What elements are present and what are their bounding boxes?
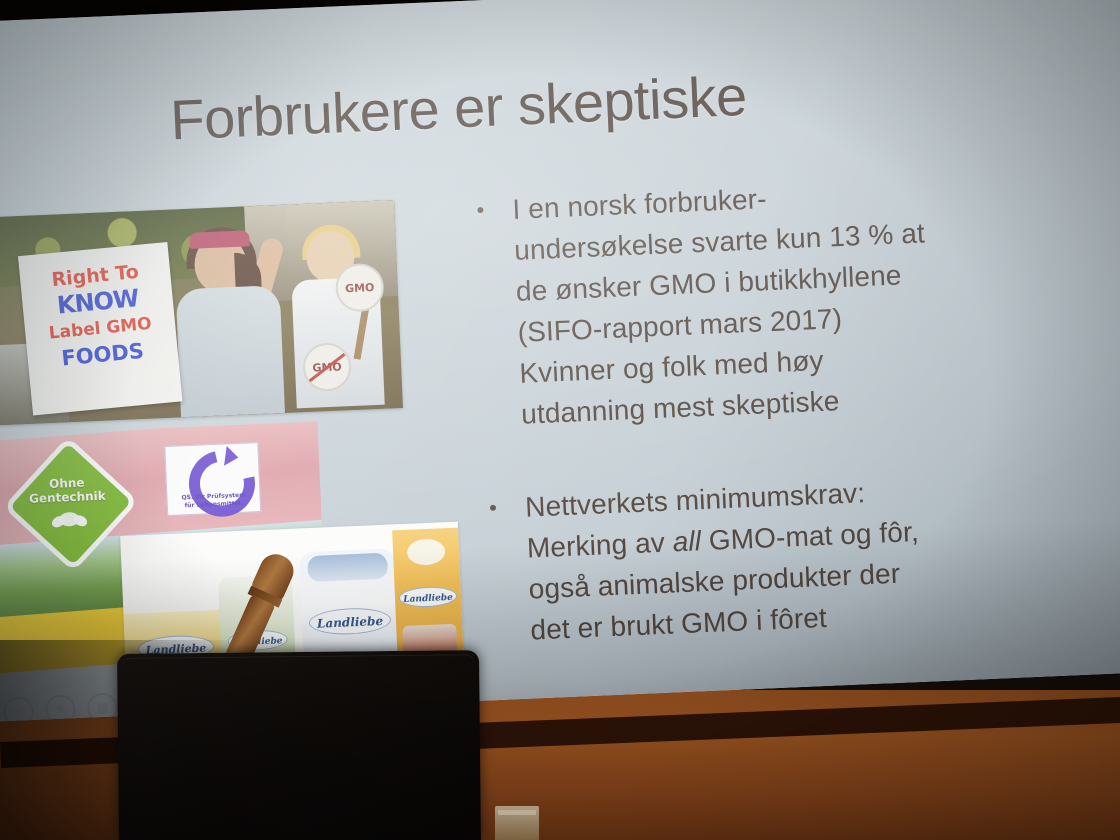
drinking-glass xyxy=(495,806,539,840)
brand-label: Landliebe xyxy=(302,613,399,631)
headband xyxy=(189,230,250,249)
carton-cap xyxy=(407,538,446,566)
slide-canvas: Forbrukere er skeptiske xyxy=(0,0,1120,721)
ohne-gentechnik-label: Ohne Gentechnik xyxy=(5,452,131,549)
bullet-line: undersøkelse svarte kun 13 % at xyxy=(514,217,926,266)
bullet-line-part: Merking av xyxy=(526,526,673,563)
slide-body-bullets: • I en norsk forbruker- undersøkelse sva… xyxy=(476,165,1097,704)
paddle-label: GMO xyxy=(345,280,375,294)
protester-child: GMO GMO xyxy=(287,228,394,407)
brand-label: Landliebe xyxy=(395,593,461,606)
slide-title: Forbrukere er skeptiske xyxy=(169,55,931,152)
bullet-item: • I en norsk forbruker- undersøkelse sva… xyxy=(476,165,1086,436)
bullet-line: Kvinner og folk med høy xyxy=(519,345,824,389)
bullet-line-part: GMO-mat og fôr, xyxy=(700,516,919,556)
protest-sign: Right To KNOW Label GMO FOODS xyxy=(18,242,183,416)
bullet-text: Nettverkets minimumskrav: Merking av all… xyxy=(524,470,923,651)
bullet-text: I en norsk forbruker- undersøkelse svart… xyxy=(512,171,933,434)
bullet-line: det er brukt GMO i fôret xyxy=(530,602,828,646)
protester-woman xyxy=(165,222,305,417)
lecture-room-scene: Forbrukere er skeptiske xyxy=(0,0,1120,840)
label-line-1: Ohne xyxy=(49,476,85,492)
presenter-laptop-lid xyxy=(117,650,481,840)
ohne-gentechnik-text: Ohne Gentechnik xyxy=(6,474,129,507)
bullet-line: utdanning mest skeptiske xyxy=(521,385,840,430)
torso xyxy=(176,285,285,417)
product-carton: Landliebe xyxy=(392,528,464,667)
gmo-labeling-protest-photo: GMO GMO Right To KNOW Label GMO F xyxy=(0,200,403,425)
bullet-line: også animalske produkter der xyxy=(528,558,901,605)
bullet-line: Nettverkets minimumskrav: xyxy=(525,477,866,523)
qs-caption: QS. Ihr Prüfsystem für Lebensmittel. xyxy=(167,491,260,511)
bullet-line: de ønsker GMO i butikkhyllene xyxy=(515,259,902,306)
bullet-line: (SIFO-rapport mars 2017) xyxy=(517,303,843,348)
qs-line-2: für Lebensmittel. xyxy=(184,500,243,509)
bullet-item: • Nettverkets minimumskrav: Merking av a… xyxy=(488,463,1094,652)
emphasis-text: all xyxy=(672,525,702,557)
bullet-line: I en norsk forbruker- xyxy=(512,183,767,225)
arrow-head-icon xyxy=(224,446,240,468)
jar-lid xyxy=(307,553,388,582)
projection-screen: Forbrukere er skeptiske xyxy=(0,0,1120,741)
qs-quality-mark: QS. Ihr Prüfsystem für Lebensmittel. xyxy=(164,442,261,516)
